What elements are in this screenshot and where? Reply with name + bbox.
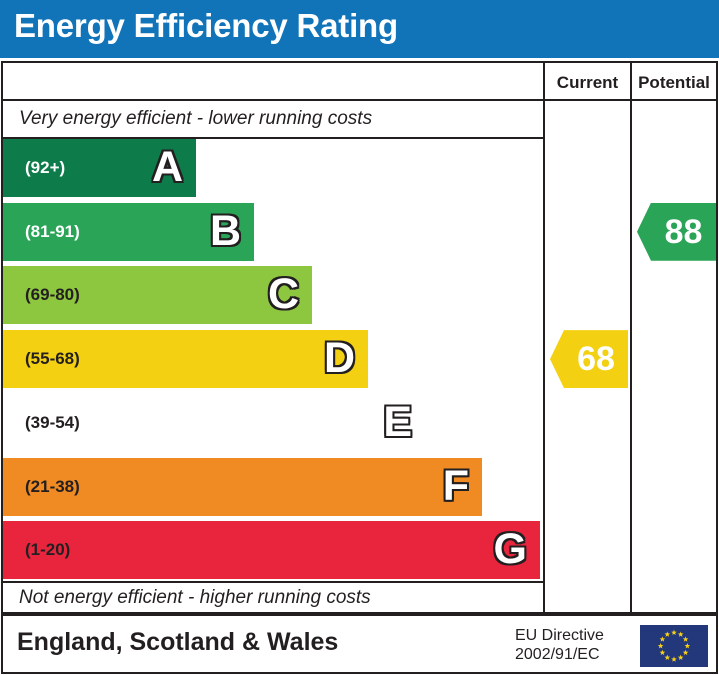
eu-flag-icon bbox=[639, 624, 709, 668]
star-icon bbox=[683, 650, 689, 655]
band-letter-b: B bbox=[210, 203, 241, 261]
column-header-potential: Potential bbox=[632, 72, 716, 94]
eu-flag-stars bbox=[640, 625, 708, 667]
band-a: (92+)A bbox=[3, 139, 196, 197]
column-divider-current bbox=[543, 63, 545, 612]
band-d: (55-68)D bbox=[3, 330, 368, 388]
footer: England, Scotland & Wales EU Directive 2… bbox=[1, 614, 718, 674]
band-c: (69-80)C bbox=[3, 266, 312, 324]
band-b: (81-91)B bbox=[3, 203, 254, 261]
star-icon bbox=[678, 655, 684, 660]
band-letter-g: G bbox=[494, 521, 527, 579]
star-icon bbox=[658, 643, 664, 648]
caption-bottom: Not energy efficient - higher running co… bbox=[19, 586, 371, 610]
star-icon bbox=[671, 656, 677, 661]
star-icon bbox=[665, 655, 671, 660]
footer-directive: EU Directive 2002/91/EC bbox=[515, 626, 631, 664]
caption-top: Very energy efficient - lower running co… bbox=[19, 107, 372, 131]
star-icon bbox=[678, 631, 684, 636]
rating-marker-current: 68 bbox=[550, 330, 628, 388]
star-icon bbox=[665, 631, 671, 636]
energy-efficiency-rating-chart: Energy Efficiency Rating Current Potenti… bbox=[0, 0, 719, 675]
footer-region-label: England, Scotland & Wales bbox=[17, 628, 338, 657]
band-range-b: (81-91) bbox=[25, 203, 80, 261]
rating-value-current: 68 bbox=[564, 330, 628, 388]
rating-value-potential: 88 bbox=[651, 203, 716, 261]
footer-directive-line2: 2002/91/EC bbox=[515, 645, 631, 664]
band-range-g: (1-20) bbox=[25, 521, 70, 579]
caption-rule-lower bbox=[3, 581, 543, 583]
footer-directive-line1: EU Directive bbox=[515, 626, 631, 645]
band-range-e: (39-54) bbox=[25, 394, 80, 452]
band-letter-a: A bbox=[152, 139, 183, 197]
column-header-current: Current bbox=[545, 72, 630, 94]
band-range-d: (55-68) bbox=[25, 330, 80, 388]
page-title: Energy Efficiency Rating bbox=[14, 7, 398, 45]
rating-marker-potential: 88 bbox=[637, 203, 716, 261]
rating-table: Current Potential Very energy efficient … bbox=[1, 61, 718, 614]
column-divider-potential bbox=[630, 63, 632, 612]
star-icon bbox=[671, 630, 677, 635]
star-icon bbox=[685, 643, 691, 648]
star-icon bbox=[660, 636, 666, 641]
band-letter-f: F bbox=[443, 458, 469, 516]
band-range-f: (21-38) bbox=[25, 458, 80, 516]
band-e: (39-54)E bbox=[3, 394, 425, 452]
band-letter-d: D bbox=[324, 330, 355, 388]
title-bar: Energy Efficiency Rating bbox=[0, 0, 719, 58]
band-g: (1-20)G bbox=[3, 521, 540, 579]
band-f: (21-38)F bbox=[3, 458, 482, 516]
star-icon bbox=[683, 636, 689, 641]
star-icon bbox=[660, 650, 666, 655]
band-range-c: (69-80) bbox=[25, 266, 80, 324]
band-letter-c: C bbox=[268, 266, 299, 324]
band-range-a: (92+) bbox=[25, 139, 65, 197]
band-letter-e: E bbox=[383, 394, 412, 452]
